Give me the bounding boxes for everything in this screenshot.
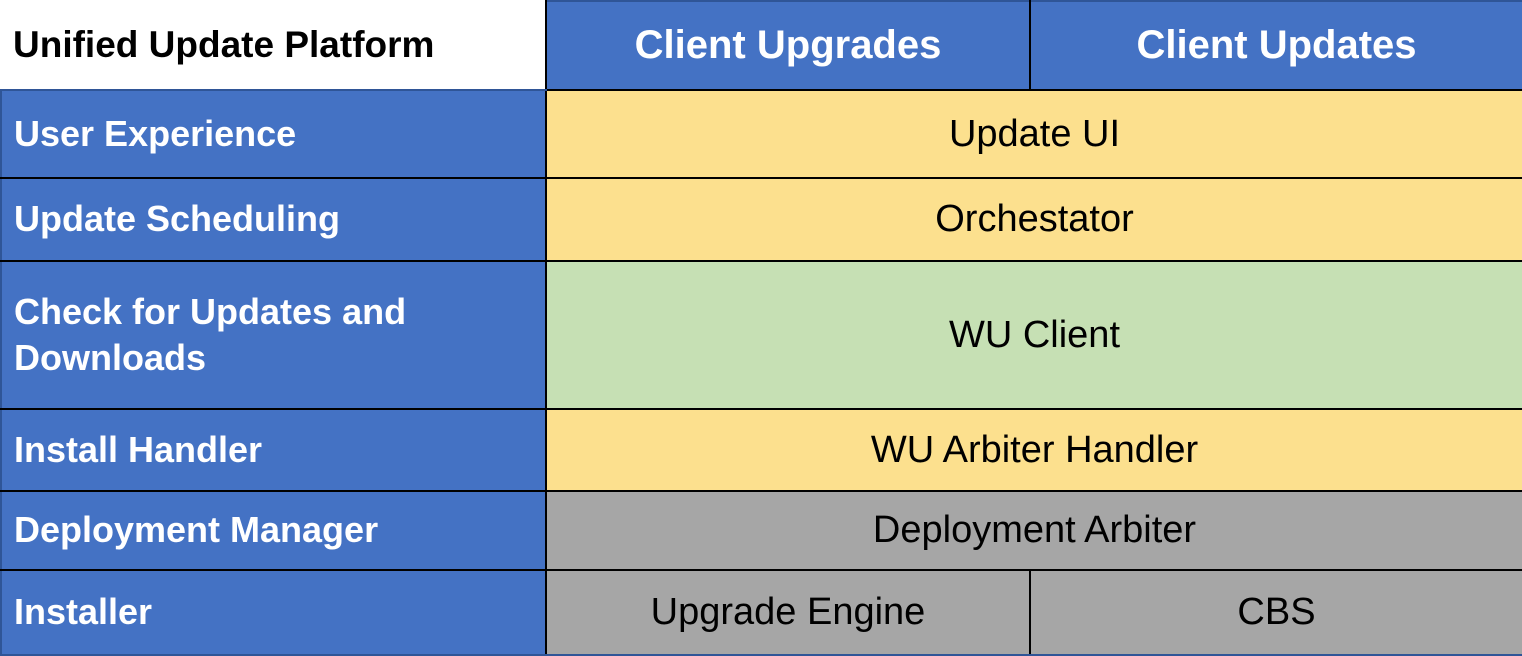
table-row: Deployment Manager Deployment Arbiter [1,491,1522,570]
cell-wu-client: WU Client [546,261,1522,409]
row-label-deployment-manager: Deployment Manager [1,491,546,570]
table-header-row: Unified Update Platform Client Upgrades … [1,1,1522,90]
row-label-install-handler: Install Handler [1,409,546,491]
cell-wu-arbiter-handler: WU Arbiter Handler [546,409,1522,491]
row-label-user-experience: User Experience [1,90,546,178]
table-row: Installer Upgrade Engine CBS [1,570,1522,655]
cell-update-ui: Update UI [546,90,1522,178]
column-header-client-updates: Client Updates [1030,1,1522,90]
cell-deployment-arbiter: Deployment Arbiter [546,491,1522,570]
row-label-check-for-updates-and-downloads: Check for Updates and Downloads [1,261,546,409]
row-label-update-scheduling: Update Scheduling [1,178,546,261]
cell-orchestator: Orchestator [546,178,1522,261]
table-row: Install Handler WU Arbiter Handler [1,409,1522,491]
table-row: Check for Updates and Downloads WU Clien… [1,261,1522,409]
table-corner-title: Unified Update Platform [1,1,546,90]
cell-upgrade-engine: Upgrade Engine [546,570,1030,655]
column-header-client-upgrades: Client Upgrades [546,1,1030,90]
table-row: User Experience Update UI [1,90,1522,178]
row-label-installer: Installer [1,570,546,655]
cell-cbs: CBS [1030,570,1522,655]
unified-update-platform-table: Unified Update Platform Client Upgrades … [0,0,1522,656]
table-row: Update Scheduling Orchestator [1,178,1522,261]
